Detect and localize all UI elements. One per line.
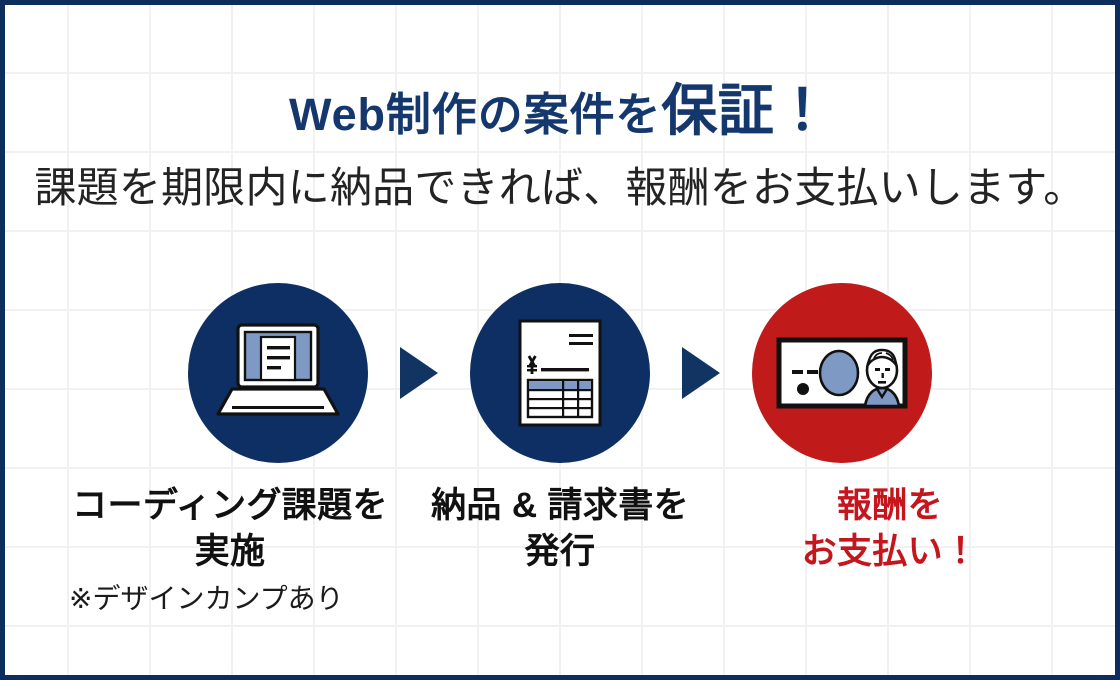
step-2-caption: 納品 & 請求書を 発行 bbox=[395, 483, 725, 575]
process-flow bbox=[5, 283, 1115, 463]
step-1-caption: コーディング課題を 実施 bbox=[65, 483, 395, 575]
laptop-document-icon bbox=[214, 321, 342, 425]
step-1-note: ※デザインカンプあり bbox=[65, 582, 395, 616]
banknote-icon bbox=[776, 337, 908, 409]
flow-arrow-2 bbox=[682, 347, 720, 399]
flow-arrow-1 bbox=[400, 347, 438, 399]
page-title-emphasis: 保証！ bbox=[661, 79, 831, 142]
step-1-caption-column: コーディング課題を 実施 ※デザインカンプあり bbox=[65, 483, 395, 653]
page-title: Web制作の案件を保証！ bbox=[5, 83, 1115, 139]
step-3-caption: 報酬を お支払い！ bbox=[725, 483, 1055, 575]
step-1-circle bbox=[188, 283, 368, 463]
step-3-circle bbox=[752, 283, 932, 463]
step-3-caption-column: 報酬を お支払い！ bbox=[725, 483, 1055, 653]
step-2-circle bbox=[470, 283, 650, 463]
step-2-caption-column: 納品 & 請求書を 発行 bbox=[395, 483, 725, 653]
step-captions: コーディング課題を 実施 ※デザインカンプあり 納品 & 請求書を 発行 報酬を… bbox=[5, 483, 1115, 653]
invoice-document-icon bbox=[514, 318, 606, 428]
poster-canvas: Web制作の案件を保証！ 課題を期限内に納品できれば、報酬をお支払いします。 bbox=[0, 0, 1120, 680]
page-title-lead: Web制作の案件を bbox=[289, 89, 661, 140]
page-subtitle: 課題を期限内に納品できれば、報酬をお支払いします。 bbox=[5, 163, 1115, 213]
